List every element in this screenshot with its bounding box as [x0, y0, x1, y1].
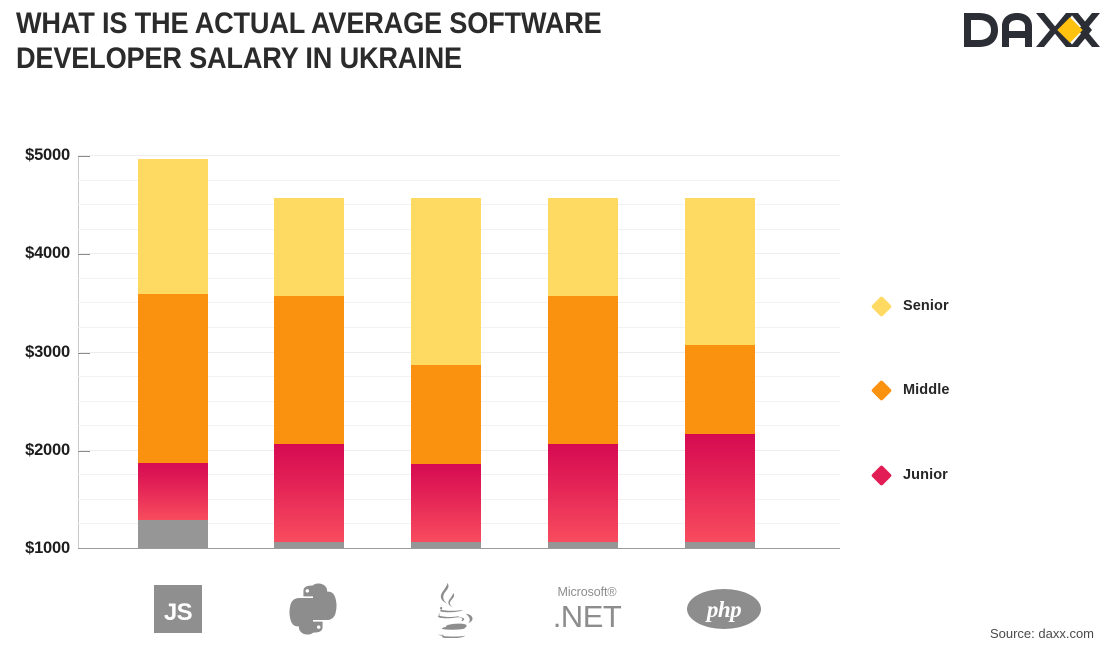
bar-segment-middle — [548, 296, 618, 444]
bar-segment-senior — [548, 198, 618, 296]
x-axis-baseline — [78, 548, 840, 549]
bar-segment-junior — [138, 463, 208, 520]
legend-diamond-junior-icon — [871, 464, 892, 485]
bar-segment-junior — [685, 434, 755, 542]
bar-python[interactable] — [274, 155, 344, 548]
bar-segment-base — [411, 542, 481, 548]
chart-plot-area — [78, 155, 840, 548]
daxx-logo-svg — [962, 8, 1102, 52]
javascript-icon: JS — [123, 578, 233, 640]
bar-segment-middle — [411, 365, 481, 464]
dotnet-microsoft-label: Microsoft® — [553, 586, 622, 599]
js-logo-label: JS — [164, 601, 192, 633]
legend-item-senior[interactable]: Senior — [874, 295, 949, 317]
dotnet-icon: Microsoft® .NET — [532, 578, 642, 640]
header: WHAT IS THE ACTUAL AVERAGE SOFTWARE DEVE… — [0, 0, 1110, 110]
bar-dotnet[interactable] — [548, 155, 618, 548]
php-logo-label: php — [707, 598, 741, 621]
bar-segment-junior — [548, 444, 618, 542]
legend-item-junior[interactable]: Junior — [874, 464, 948, 486]
daxx-logo — [962, 8, 1102, 52]
y-axis-labels: $5000 $4000 $3000 $2000 $1000 — [0, 0, 70, 649]
bar-php[interactable] — [685, 155, 755, 548]
legend-label-middle: Middle — [903, 382, 950, 398]
php-logo-oval: php — [687, 589, 761, 629]
legend-label-senior: Senior — [903, 298, 949, 314]
js-logo-box: JS — [154, 585, 202, 633]
source-note: Source: daxx.com — [990, 626, 1094, 641]
bar-segment-middle — [138, 294, 208, 463]
dotnet-label: .NET — [553, 601, 622, 632]
y-tick-label: $5000 — [0, 146, 70, 165]
y-tick-label: $1000 — [0, 539, 70, 558]
y-tick-label: $2000 — [0, 441, 70, 460]
legend-item-middle[interactable]: Middle — [874, 379, 950, 401]
bar-segment-base — [685, 542, 755, 548]
java-icon — [395, 578, 505, 640]
y-tick-label: $3000 — [0, 343, 70, 362]
legend-label-junior: Junior — [903, 467, 948, 483]
bar-segment-base — [548, 542, 618, 548]
bar-javascript[interactable] — [138, 155, 208, 548]
legend-diamond-senior-icon — [871, 295, 892, 316]
bar-segment-senior — [411, 198, 481, 365]
legend-diamond-middle-icon — [871, 379, 892, 400]
python-logo-svg — [287, 583, 339, 635]
java-logo-svg — [420, 580, 480, 638]
y-tick-label: $4000 — [0, 244, 70, 263]
bar-segment-senior — [685, 198, 755, 345]
bar-java[interactable] — [411, 155, 481, 548]
bar-segment-senior — [274, 198, 344, 296]
bar-segment-senior — [138, 159, 208, 294]
page-title: WHAT IS THE ACTUAL AVERAGE SOFTWARE DEVE… — [16, 6, 752, 76]
php-icon: php — [669, 578, 779, 640]
bar-segment-base — [138, 520, 208, 548]
bar-segment-junior — [411, 464, 481, 542]
python-icon — [258, 578, 368, 640]
bar-segment-middle — [274, 296, 344, 444]
bar-segment-middle — [685, 345, 755, 434]
bar-segment-junior — [274, 444, 344, 542]
bar-segment-base — [274, 542, 344, 548]
dotnet-logo-text: Microsoft® .NET — [553, 586, 622, 632]
